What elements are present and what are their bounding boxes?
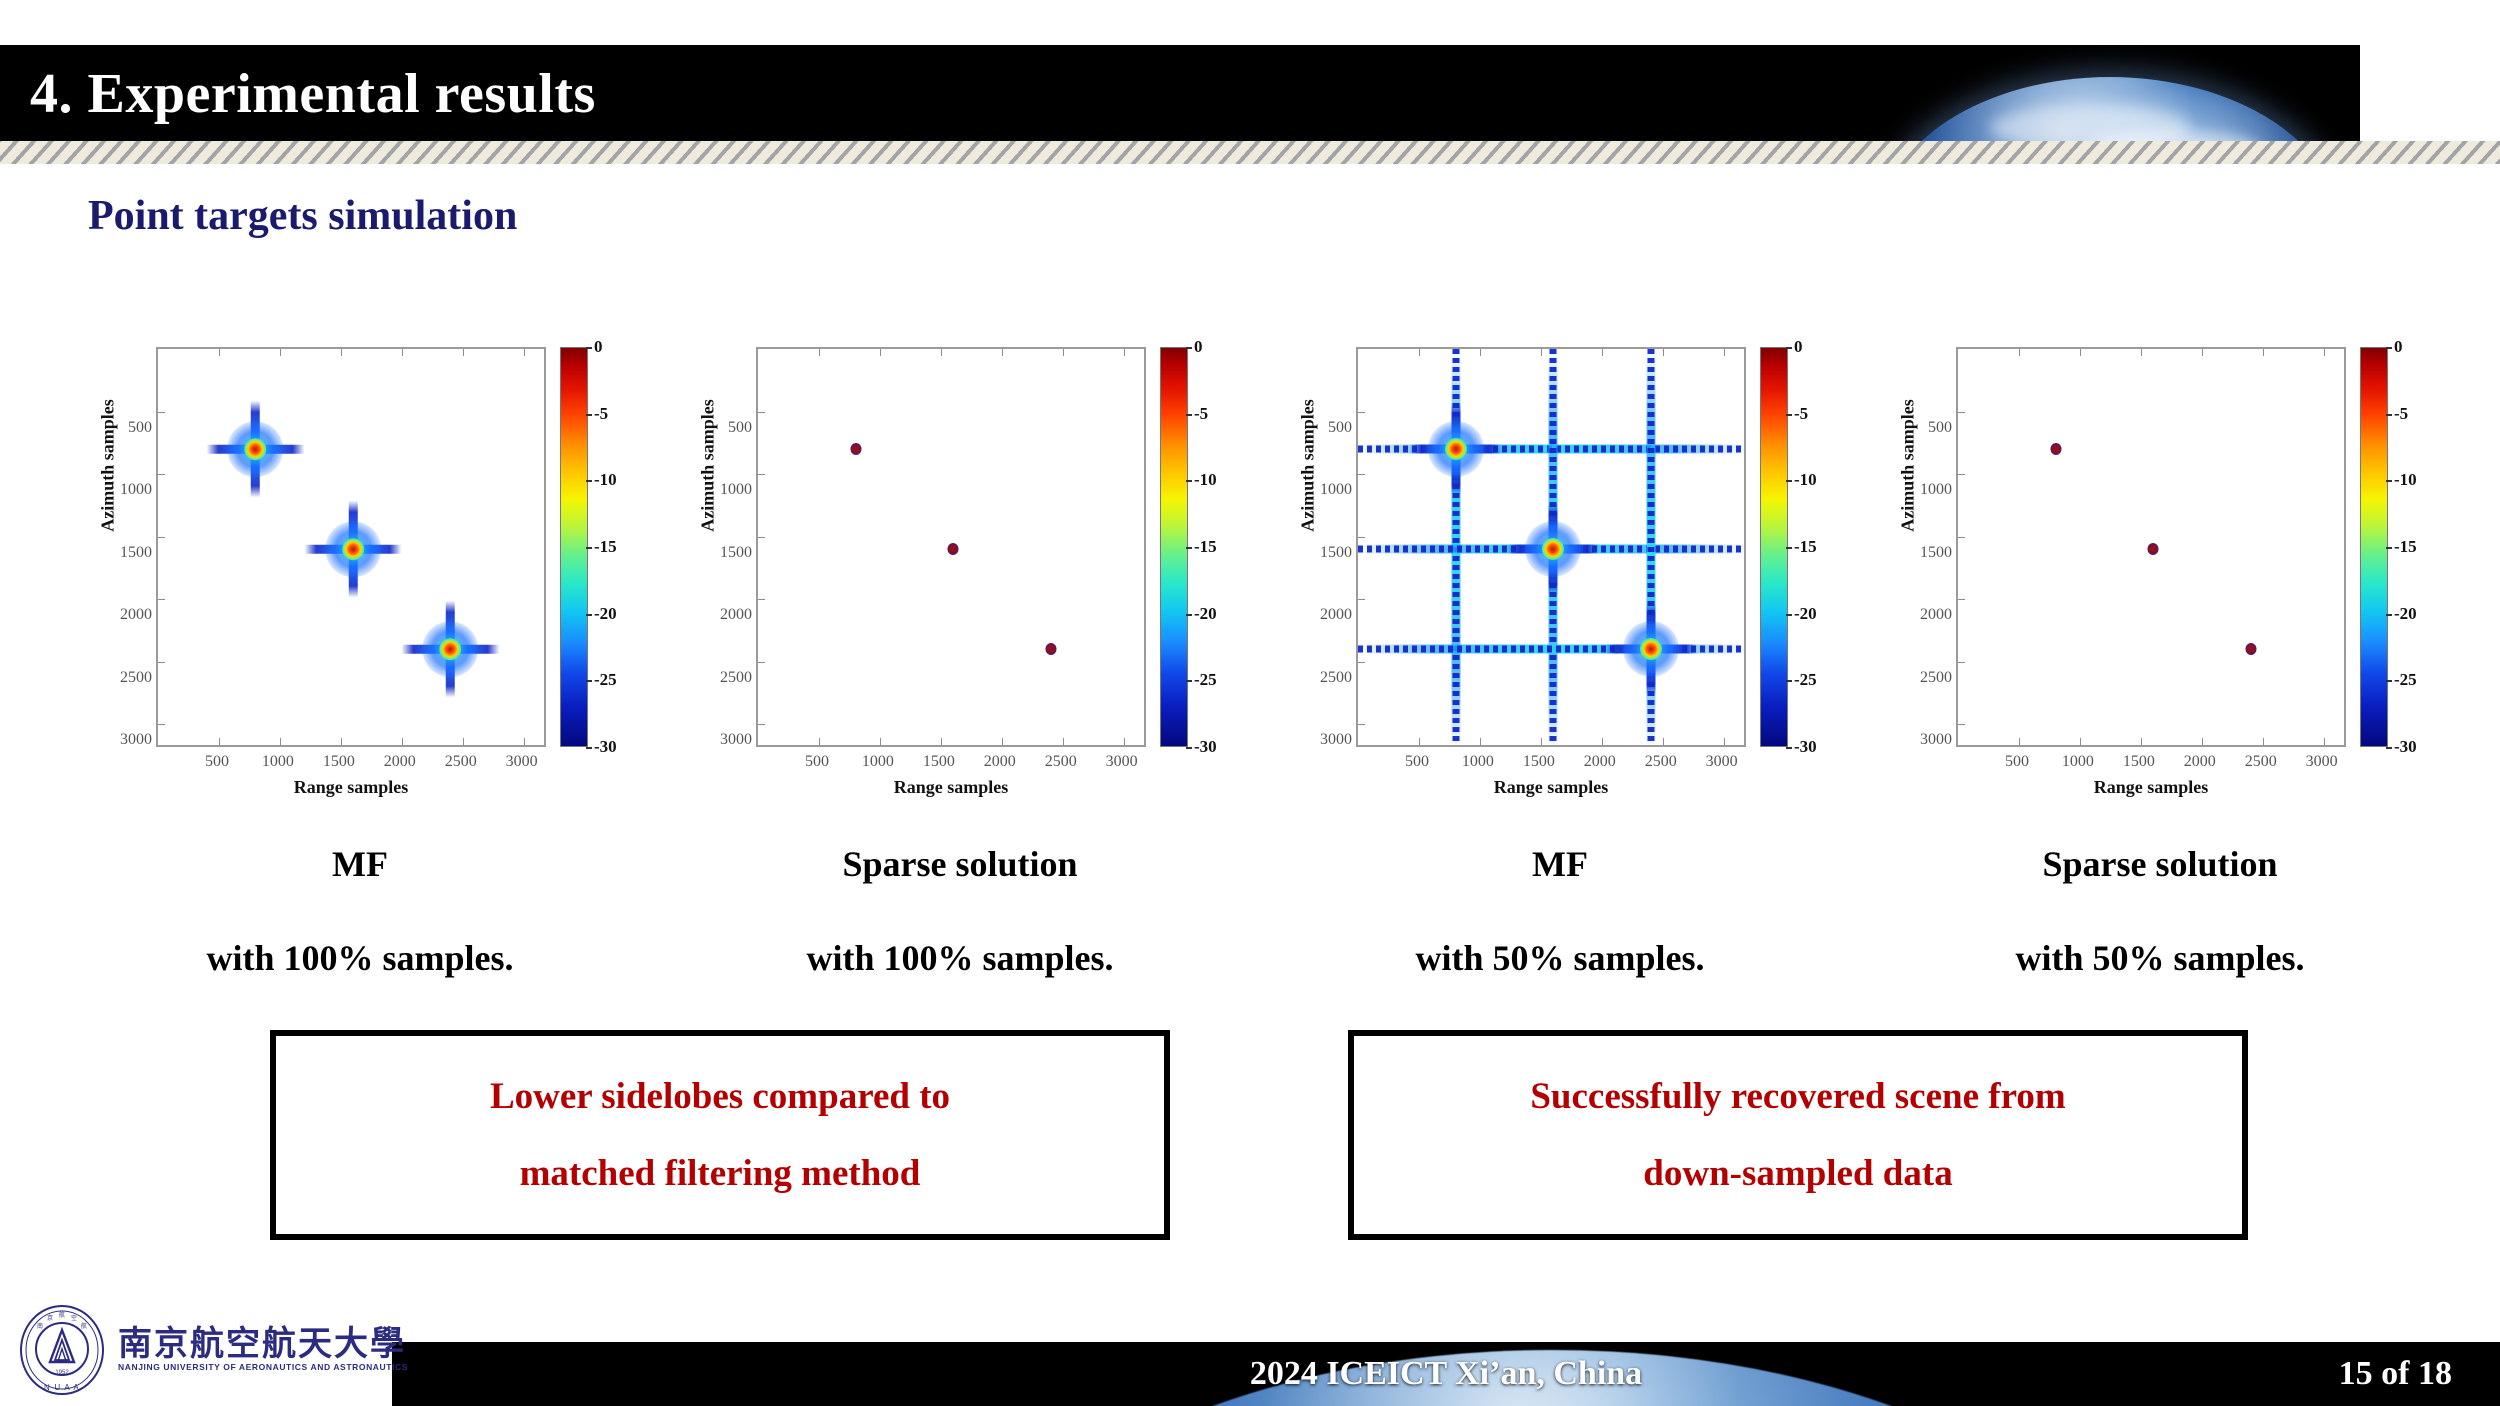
x-tick-mark — [1063, 349, 1064, 356]
y-tick-labels: 50010001500200025003000 — [1282, 365, 1352, 745]
x-tick-mark — [341, 349, 342, 356]
colorbar-tick-mark — [2386, 414, 2392, 416]
caption-row: MFwith 100% samples.Sparse solutionwith … — [60, 845, 2460, 995]
colorbar-tick-label: -10 — [2394, 470, 2417, 490]
x-tick-mark — [2019, 349, 2020, 356]
y-tick: 2000 — [1920, 606, 1952, 624]
x-tick-mark — [280, 349, 281, 356]
y-tick: 2500 — [720, 669, 752, 687]
colorbar-tick-mark — [2386, 480, 2392, 482]
figure-sparse-50: Azimuth samples5001000150020002500300050… — [1860, 325, 2460, 805]
colorbar-tick-mark — [586, 347, 592, 349]
x-tick-mark — [2324, 738, 2325, 745]
colorbar-tick-label: -15 — [1194, 537, 1217, 557]
point-target — [2245, 643, 2256, 655]
colorbar-tick-mark — [1186, 347, 1192, 349]
x-tick: 1500 — [923, 753, 955, 771]
logo-chinese-name: 南京航空航天大學 — [118, 1316, 406, 1365]
colorbar-tick-mark — [586, 480, 592, 482]
y-tick: 1000 — [120, 481, 152, 499]
colorbar-tick-mark — [1186, 614, 1192, 616]
x-tick: 3000 — [2306, 753, 2338, 771]
x-tick: 500 — [805, 753, 829, 771]
x-tick-mark — [819, 349, 820, 356]
colorbar-tick-mark — [1786, 414, 1792, 416]
point-target — [402, 600, 500, 698]
callout-left-line2: matched filtering method — [520, 1155, 921, 1192]
caption-line1: Sparse solution — [660, 845, 1260, 885]
y-tick: 1000 — [1920, 481, 1952, 499]
svg-text:南: 南 — [37, 1322, 43, 1330]
x-tick-mark — [219, 738, 220, 745]
x-tick-mark — [819, 738, 820, 745]
y-tick-mark — [758, 724, 765, 725]
y-tick-mark — [1958, 724, 1965, 725]
colorbar-tick-label: -5 — [594, 404, 608, 424]
y-tick-mark — [1358, 662, 1365, 663]
svg-text:N U A A: N U A A — [44, 1383, 80, 1392]
colorbar-tick-mark — [1786, 680, 1792, 682]
target-core — [1542, 538, 1564, 560]
y-tick: 2000 — [720, 606, 752, 624]
figure-sparse-100: Azimuth samples5001000150020002500300050… — [660, 325, 1260, 805]
colorbar-tick-mark — [1186, 547, 1192, 549]
y-tick-mark — [158, 537, 165, 538]
earth-globe-icon — [1840, 45, 2360, 141]
x-tick-mark — [1663, 349, 1664, 356]
x-axis-label: Range samples — [1956, 777, 2346, 798]
y-tick: 1500 — [1920, 544, 1952, 562]
x-tick-mark — [1002, 738, 1003, 745]
colorbar-tick-mark — [2386, 347, 2392, 349]
point-target — [1410, 403, 1502, 495]
figure-mf-100: Azimuth samples5001000150020002500300050… — [60, 325, 660, 805]
colorbar-tick-mark — [586, 680, 592, 682]
caption-line2: with 100% samples. — [60, 937, 660, 979]
target-core — [1640, 638, 1662, 660]
x-tick: 1000 — [1462, 753, 1494, 771]
x-tick-mark — [524, 738, 525, 745]
figure-row: Azimuth samples5001000150020002500300050… — [60, 325, 2460, 805]
figure-caption: MFwith 100% samples. — [60, 845, 660, 995]
colorbar-tick-mark — [1186, 680, 1192, 682]
y-tick-mark — [1358, 599, 1365, 600]
colorbar-tick-mark — [1786, 480, 1792, 482]
colorbar-tick-label: -30 — [1794, 737, 1817, 757]
x-tick-labels: 50010001500200025003000 — [756, 753, 1146, 779]
colorbar-tick-mark — [1786, 547, 1792, 549]
y-tick-mark — [158, 474, 165, 475]
x-tick: 2000 — [384, 753, 416, 771]
caption-line2: with 100% samples. — [660, 937, 1260, 979]
x-axis-label: Range samples — [756, 777, 1146, 798]
svg-text:航: 航 — [59, 1311, 65, 1319]
callout-right-line2: down-sampled data — [1643, 1155, 1952, 1192]
target-core — [440, 638, 462, 660]
colorbar-tick-mark — [1786, 747, 1792, 749]
x-axis-label: Range samples — [156, 777, 546, 798]
y-tick-mark — [758, 662, 765, 663]
colorbar-tick-label: -20 — [594, 604, 617, 624]
nuaa-seal-icon: 1952 N U A A 南京 航空 航 — [18, 1304, 106, 1396]
x-tick-mark — [1419, 738, 1420, 745]
colorbar-tick-label: 0 — [2394, 337, 2403, 357]
plot-area — [756, 347, 1146, 747]
point-target — [207, 400, 305, 498]
colorbar-tick-label: -20 — [2394, 604, 2417, 624]
svg-text:空: 空 — [71, 1314, 77, 1322]
colorbar-tick-mark — [1786, 347, 1792, 349]
x-tick: 1500 — [323, 753, 355, 771]
plot-mf-50: Azimuth samples5001000150020002500300050… — [1260, 325, 1860, 805]
plot-mf-100: Azimuth samples5001000150020002500300050… — [60, 325, 660, 805]
y-tick: 500 — [1928, 419, 1952, 437]
x-tick-mark — [941, 738, 942, 745]
colorbar-tick-label: -30 — [2394, 737, 2417, 757]
x-tick-mark — [219, 349, 220, 356]
page-indicator: 15 of 18 — [2339, 1342, 2452, 1406]
colorbar-tick-mark — [2386, 747, 2392, 749]
y-tick-mark — [158, 662, 165, 663]
y-tick-mark — [1358, 474, 1365, 475]
colorbar-tick-label: -20 — [1194, 604, 1217, 624]
colorbar-tick-label: -20 — [1794, 604, 1817, 624]
caption-line2: with 50% samples. — [1860, 937, 2460, 979]
y-tick: 1500 — [120, 544, 152, 562]
y-tick: 2000 — [120, 606, 152, 624]
x-tick: 500 — [205, 753, 229, 771]
x-tick: 2000 — [2184, 753, 2216, 771]
x-tick-mark — [1480, 349, 1481, 356]
y-tick: 2500 — [120, 669, 152, 687]
x-tick-mark — [402, 349, 403, 356]
target-core — [1445, 438, 1467, 460]
plot-area — [1956, 347, 2346, 747]
plot-sparse-50: Azimuth samples5001000150020002500300050… — [1860, 325, 2460, 805]
x-tick: 2000 — [984, 753, 1016, 771]
y-tick: 1000 — [1320, 481, 1352, 499]
callout-box-left: Lower sidelobes compared to matched filt… — [270, 1030, 1170, 1240]
colorbar-tick-mark — [1186, 480, 1192, 482]
y-tick-labels: 50010001500200025003000 — [682, 365, 752, 745]
point-target — [1605, 603, 1697, 695]
x-tick: 1000 — [2062, 753, 2094, 771]
x-tick: 3000 — [1706, 753, 1738, 771]
y-tick-mark — [1958, 662, 1965, 663]
colorbar-labels: 0-5-10-15-20-25-30 — [1194, 347, 1250, 747]
y-tick-labels: 50010001500200025003000 — [82, 365, 152, 745]
colorbar-tick-mark — [586, 614, 592, 616]
x-tick-mark — [524, 349, 525, 356]
y-tick: 1000 — [720, 481, 752, 499]
colorbar-gradient — [560, 347, 588, 747]
colorbar: 0-5-10-15-20-25-30 — [2360, 347, 2450, 747]
y-tick: 2000 — [1320, 606, 1352, 624]
colorbar-tick-label: -30 — [1194, 737, 1217, 757]
figure-caption: Sparse solutionwith 100% samples. — [660, 845, 1260, 995]
colorbar-tick-mark — [586, 747, 592, 749]
y-tick: 2500 — [1320, 669, 1352, 687]
colorbar-tick-label: -25 — [1794, 670, 1817, 690]
x-tick: 1000 — [262, 753, 294, 771]
x-tick-mark — [1063, 738, 1064, 745]
colorbar-tick-mark — [1786, 614, 1792, 616]
plot-area — [156, 347, 546, 747]
y-tick: 1500 — [1320, 544, 1352, 562]
target-core — [342, 538, 364, 560]
footer-band: 2024 ICEICT Xi’an, China 15 of 18 — [392, 1342, 2500, 1406]
y-tick: 3000 — [120, 731, 152, 749]
figure-mf-50: Azimuth samples5001000150020002500300050… — [1260, 325, 1860, 805]
colorbar-tick-label: -15 — [1794, 537, 1817, 557]
x-tick-mark — [1724, 738, 1725, 745]
x-tick-mark — [1541, 738, 1542, 745]
colorbar-tick-label: -15 — [2394, 537, 2417, 557]
caption-line1: MF — [1260, 845, 1860, 885]
x-tick: 1500 — [1523, 753, 1555, 771]
colorbar-tick-mark — [1186, 414, 1192, 416]
colorbar-tick-label: 0 — [1194, 337, 1203, 357]
colorbar-tick-label: -10 — [1794, 470, 1817, 490]
colorbar-tick-label: -25 — [2394, 670, 2417, 690]
x-tick-mark — [2080, 349, 2081, 356]
x-tick: 2500 — [1045, 753, 1077, 771]
target-core — [245, 438, 267, 460]
x-tick-mark — [1541, 349, 1542, 356]
hatch-divider — [0, 141, 2500, 164]
point-target — [304, 500, 402, 598]
colorbar-gradient — [2360, 347, 2388, 747]
x-tick: 500 — [2005, 753, 2029, 771]
colorbar-tick-label: -5 — [1194, 404, 1208, 424]
x-tick-mark — [1419, 349, 1420, 356]
y-tick-mark — [1958, 599, 1965, 600]
colorbar-tick-label: -30 — [594, 737, 617, 757]
caption-line1: MF — [60, 845, 660, 885]
x-tick-mark — [2202, 349, 2203, 356]
x-tick: 2000 — [1584, 753, 1616, 771]
colorbar-tick-label: -5 — [2394, 404, 2408, 424]
x-tick-mark — [1480, 738, 1481, 745]
point-target — [1507, 503, 1599, 595]
x-tick-mark — [463, 738, 464, 745]
x-tick: 2500 — [2245, 753, 2277, 771]
x-tick-mark — [341, 738, 342, 745]
colorbar-tick-label: -25 — [1194, 670, 1217, 690]
x-tick-labels: 50010001500200025003000 — [1956, 753, 2346, 779]
x-tick: 1000 — [862, 753, 894, 771]
x-tick-mark — [2263, 349, 2264, 356]
point-target — [2148, 543, 2159, 555]
x-tick-mark — [2141, 349, 2142, 356]
colorbar-tick-mark — [586, 547, 592, 549]
colorbar-tick-mark — [2386, 680, 2392, 682]
y-tick-mark — [1358, 724, 1365, 725]
point-target — [948, 543, 959, 555]
x-tick-mark — [1002, 349, 1003, 356]
colorbar-tick-label: 0 — [594, 337, 603, 357]
x-tick: 1500 — [2123, 753, 2155, 771]
x-tick-mark — [2080, 738, 2081, 745]
x-tick-mark — [402, 738, 403, 745]
x-tick-mark — [463, 349, 464, 356]
colorbar-tick-mark — [2386, 614, 2392, 616]
y-tick-mark — [1958, 537, 1965, 538]
callout-right-line1: Successfully recovered scene from — [1530, 1078, 2065, 1115]
y-tick: 3000 — [720, 731, 752, 749]
x-tick-mark — [941, 349, 942, 356]
y-tick-mark — [158, 599, 165, 600]
x-tick-mark — [2324, 349, 2325, 356]
x-tick-mark — [1124, 349, 1125, 356]
colorbar-tick-mark — [2386, 547, 2392, 549]
logo-english-name: NANJING UNIVERSITY OF AERONAUTICS AND AS… — [118, 1362, 408, 1372]
x-tick-mark — [2019, 738, 2020, 745]
colorbar-tick-mark — [586, 414, 592, 416]
y-tick-mark — [758, 537, 765, 538]
x-tick-labels: 50010001500200025003000 — [156, 753, 546, 779]
y-tick: 3000 — [1920, 731, 1952, 749]
x-tick-mark — [1663, 738, 1664, 745]
y-tick-mark — [158, 724, 165, 725]
colorbar: 0-5-10-15-20-25-30 — [560, 347, 650, 747]
point-target — [850, 443, 861, 455]
plot-sparse-100: Azimuth samples5001000150020002500300050… — [660, 325, 1260, 805]
point-target — [1045, 643, 1056, 655]
point-target — [2050, 443, 2061, 455]
x-tick-mark — [1602, 738, 1603, 745]
page-title: 4. Experimental results — [30, 48, 596, 140]
colorbar-tick-label: -10 — [594, 470, 617, 490]
colorbar-labels: 0-5-10-15-20-25-30 — [594, 347, 650, 747]
x-tick-labels: 50010001500200025003000 — [1356, 753, 1746, 779]
caption-line2: with 50% samples. — [1260, 937, 1860, 979]
y-tick-mark — [1958, 412, 1965, 413]
plot-area — [1356, 347, 1746, 747]
y-tick: 1500 — [720, 544, 752, 562]
section-subtitle: Point targets simulation — [88, 192, 517, 240]
svg-text:航: 航 — [81, 1322, 87, 1330]
conference-label: 2024 ICEICT Xi’an, China — [392, 1342, 2500, 1406]
x-tick-mark — [880, 738, 881, 745]
x-tick: 500 — [1405, 753, 1429, 771]
svg-text:京: 京 — [47, 1314, 53, 1322]
svg-text:1952: 1952 — [55, 1370, 69, 1376]
y-tick-mark — [1358, 537, 1365, 538]
colorbar-tick-label: 0 — [1794, 337, 1803, 357]
callout-box-right: Successfully recovered scene from down-s… — [1348, 1030, 2248, 1240]
x-axis-label: Range samples — [1356, 777, 1746, 798]
colorbar-labels: 0-5-10-15-20-25-30 — [1794, 347, 1850, 747]
x-tick-mark — [280, 738, 281, 745]
x-tick-mark — [2202, 738, 2203, 745]
x-tick: 2500 — [1645, 753, 1677, 771]
colorbar-tick-label: -25 — [594, 670, 617, 690]
y-tick-mark — [758, 474, 765, 475]
callout-left-line1: Lower sidelobes compared to — [490, 1078, 950, 1115]
colorbar-labels: 0-5-10-15-20-25-30 — [2394, 347, 2450, 747]
x-tick-mark — [2263, 738, 2264, 745]
x-tick-mark — [1602, 349, 1603, 356]
colorbar-tick-mark — [1186, 747, 1192, 749]
x-tick-mark — [2141, 738, 2142, 745]
colorbar-tick-label: -5 — [1794, 404, 1808, 424]
x-tick: 3000 — [1106, 753, 1138, 771]
y-tick-mark — [158, 412, 165, 413]
y-tick-labels: 50010001500200025003000 — [1882, 365, 1952, 745]
colorbar: 0-5-10-15-20-25-30 — [1160, 347, 1250, 747]
figure-caption: Sparse solutionwith 50% samples. — [1860, 845, 2460, 995]
y-tick-mark — [1358, 412, 1365, 413]
x-tick-mark — [880, 349, 881, 356]
caption-line1: Sparse solution — [1860, 845, 2460, 885]
colorbar-tick-label: -10 — [1194, 470, 1217, 490]
x-tick: 3000 — [506, 753, 538, 771]
y-tick-mark — [758, 599, 765, 600]
x-tick: 2500 — [445, 753, 477, 771]
x-tick-mark — [1724, 349, 1725, 356]
y-tick: 500 — [728, 419, 752, 437]
y-tick-mark — [758, 412, 765, 413]
colorbar-gradient — [1160, 347, 1188, 747]
colorbar: 0-5-10-15-20-25-30 — [1760, 347, 1850, 747]
y-tick: 500 — [128, 419, 152, 437]
colorbar-gradient — [1760, 347, 1788, 747]
figure-caption: MFwith 50% samples. — [1260, 845, 1860, 995]
y-tick: 500 — [1328, 419, 1352, 437]
y-tick-mark — [1958, 474, 1965, 475]
colorbar-tick-label: -15 — [594, 537, 617, 557]
y-tick: 3000 — [1320, 731, 1352, 749]
university-logo: 1952 N U A A 南京 航空 航 南京航空航天大學 NANJING UN… — [18, 1302, 388, 1398]
x-tick-mark — [1124, 738, 1125, 745]
y-tick: 2500 — [1920, 669, 1952, 687]
